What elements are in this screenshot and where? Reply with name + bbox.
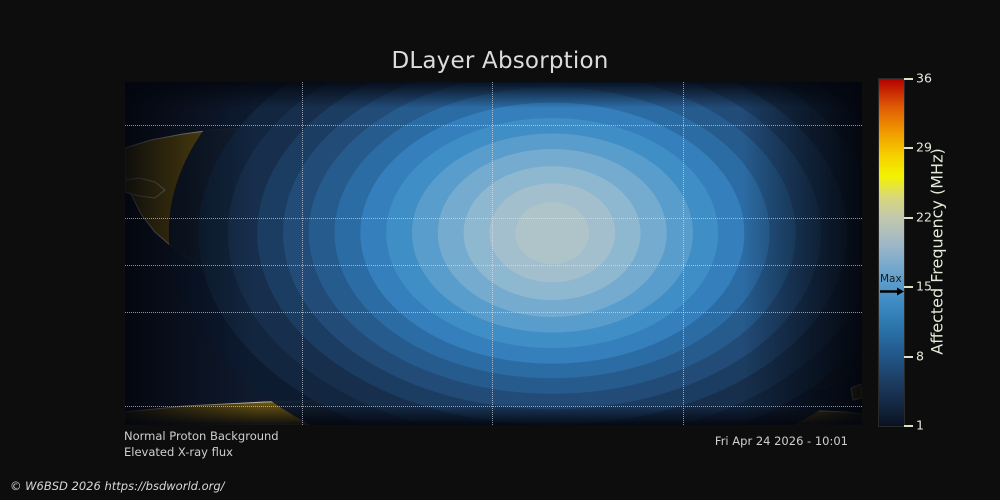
gridline-parallel [125,125,862,126]
colorbar-tick-label: 1 [916,418,924,433]
figure-canvas: DLayer Absorption [0,0,1000,500]
gridline-meridian [492,82,493,425]
gridline-parallel [125,406,862,407]
gridline-parallel [125,265,862,266]
copyright-notice: © W6BSD 2026 https://bsdworld.org/ [10,479,225,493]
status-note-xray: Elevated X-ray flux [124,445,233,459]
colorbar-gradient [879,79,904,426]
gridline-parallel [125,312,862,313]
colorbar-tick-mark [904,147,913,149]
colorbar-axis-title: Affected Frequency (MHz) [925,78,949,425]
colorbar-tick-mark [904,356,913,358]
colorbar-tick-mark [904,78,913,80]
world-absorption-map[interactable] [125,82,862,425]
gridline-meridian [302,82,303,425]
page-title: DLayer Absorption [0,48,1000,74]
colorbar-tick-label: 8 [916,348,924,363]
colorbar-axis-title-text: Affected Frequency (MHz) [928,148,947,354]
timestamp: Fri Apr 24 2026 - 10:01 [715,434,848,448]
terminator-shading-north [125,82,862,108]
gridline-meridian [683,82,684,425]
gridline-parallel [125,218,862,219]
status-note-proton: Normal Proton Background [124,429,279,443]
terminator-shading-west [125,82,255,425]
colorbar-tick-mark [904,286,913,288]
terminator-shading-east [742,82,862,425]
colorbar-tick-mark [904,425,913,427]
colorbar-tick-mark [904,217,913,219]
colorbar[interactable]: Max [878,78,905,427]
